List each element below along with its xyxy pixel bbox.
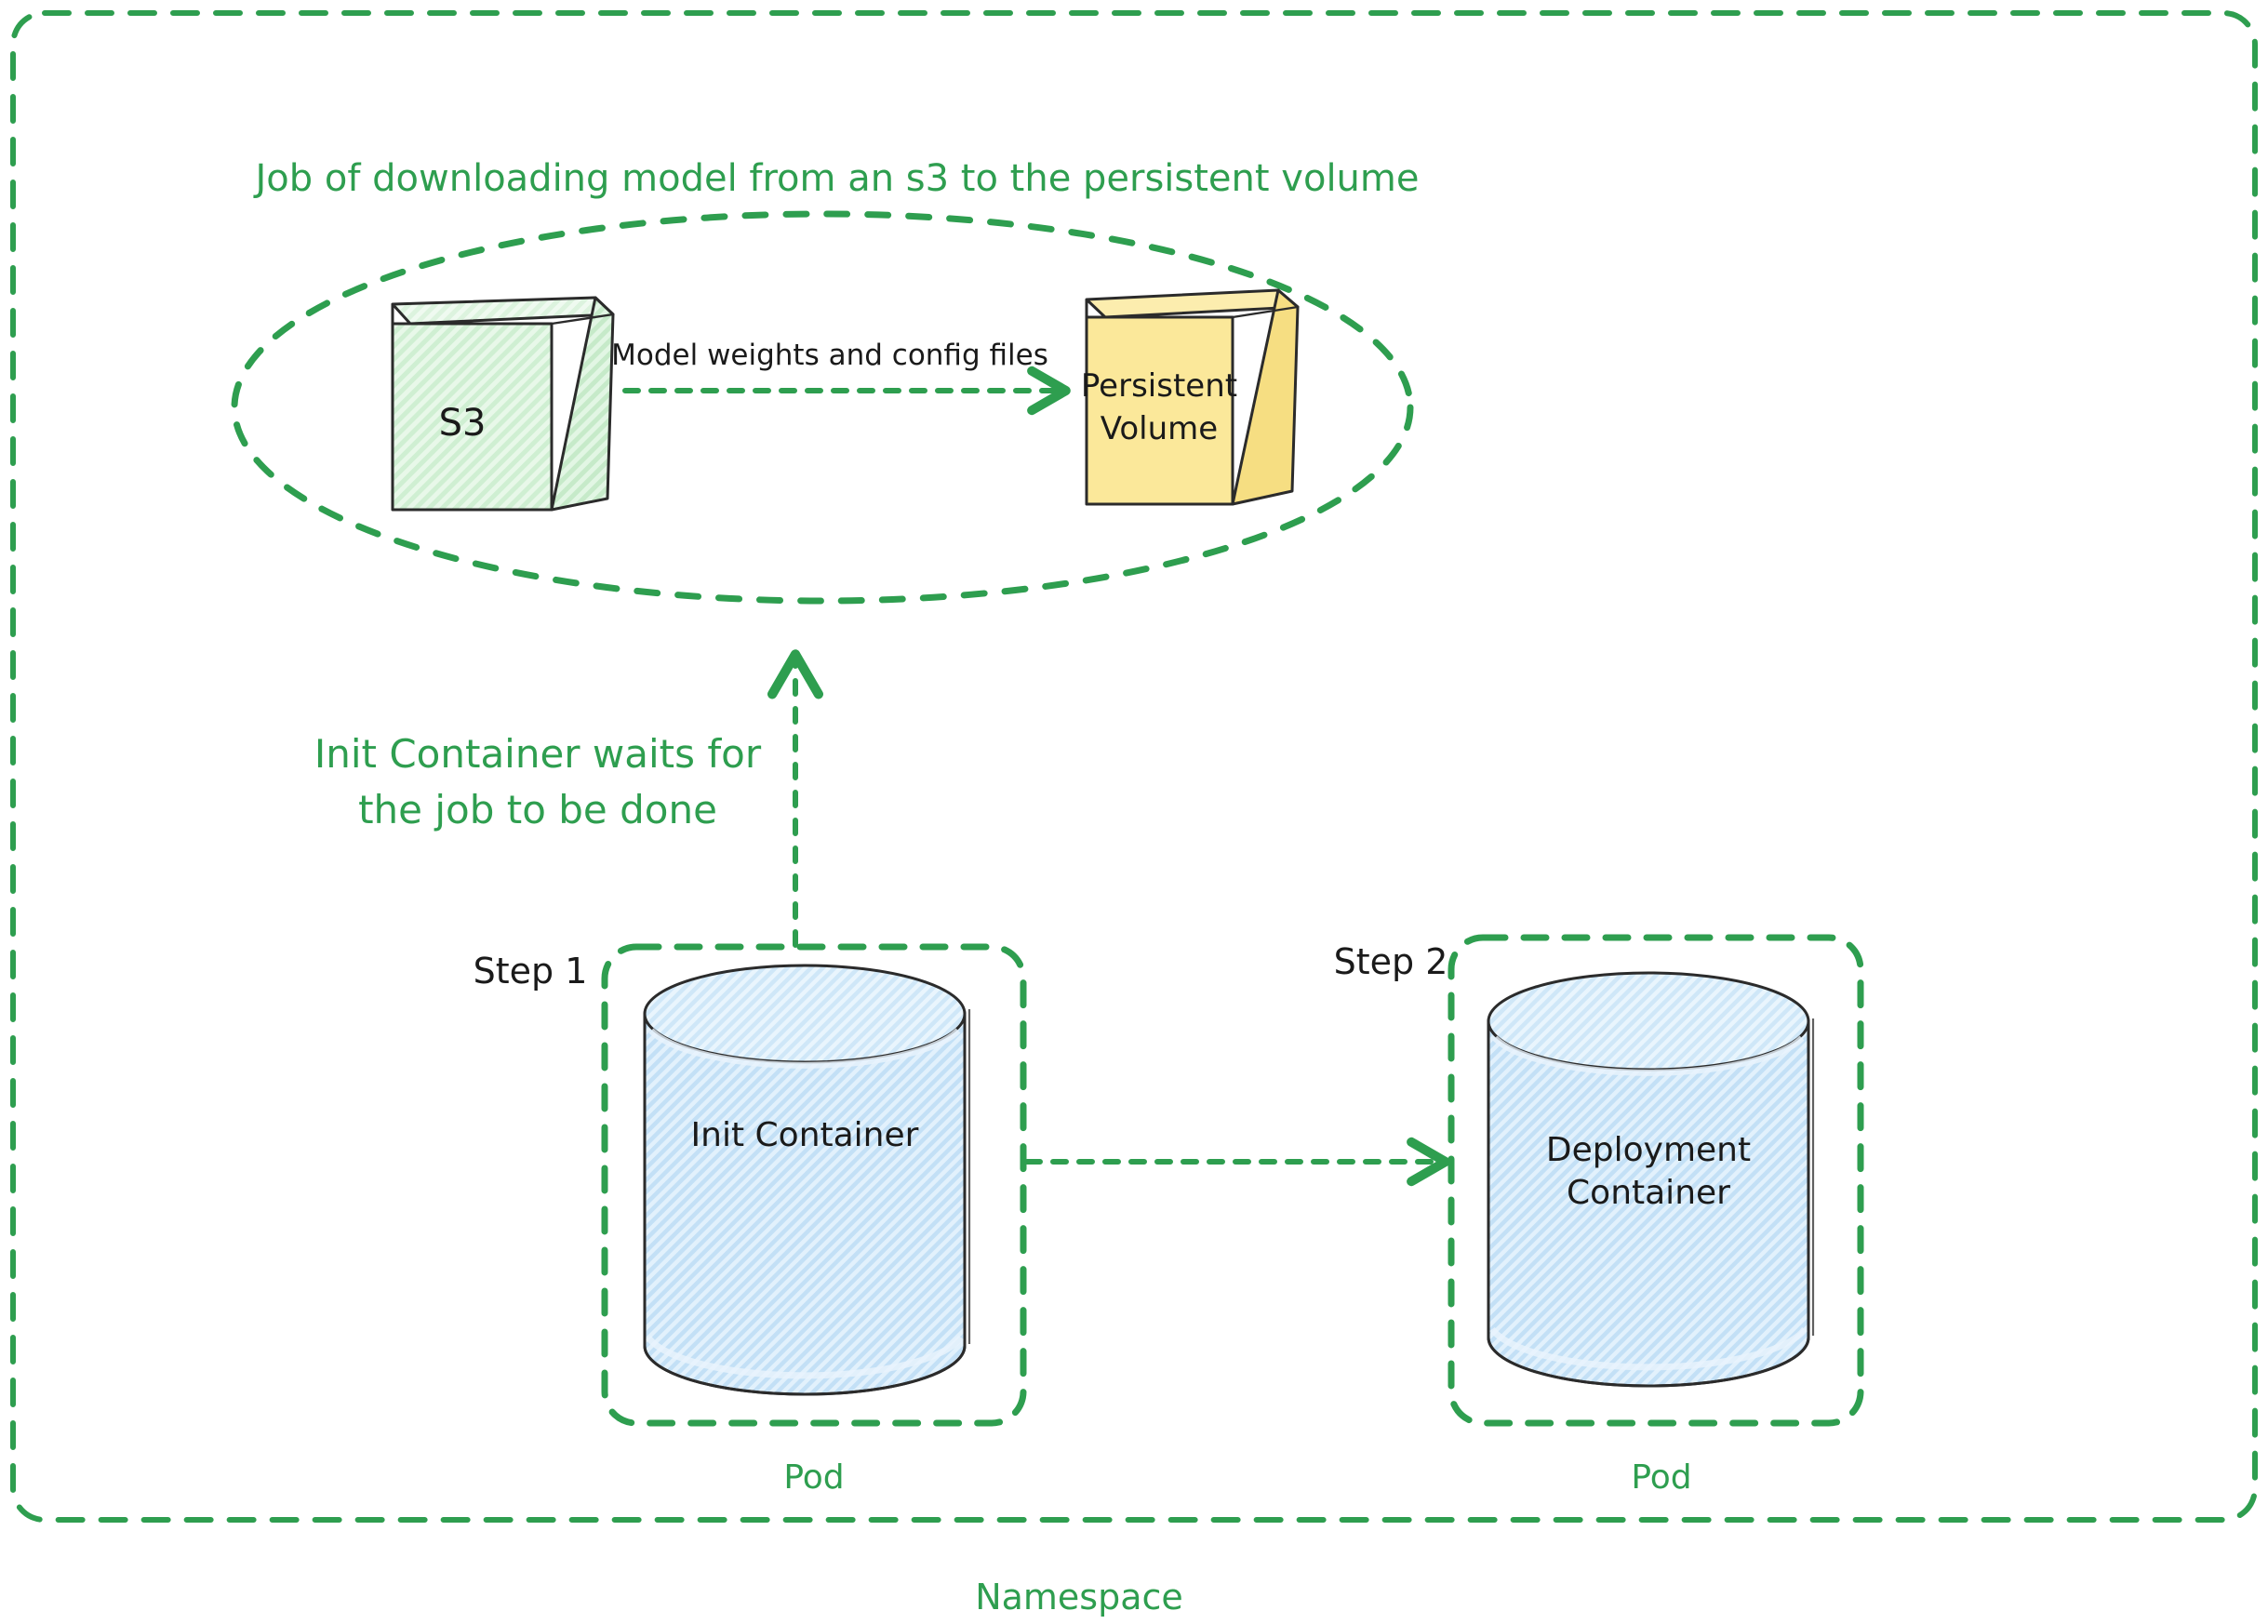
- deployment-container-label-line1: Deployment: [1546, 1131, 1751, 1169]
- persistent-volume-cube: Persistent Volume: [1081, 290, 1298, 504]
- namespace-label: Namespace: [975, 1577, 1183, 1617]
- job-group-caption: Job of downloading model from an s3 to t…: [253, 157, 1420, 200]
- architecture-diagram: S3 Persistent Volume: [0, 0, 2268, 1624]
- s3-label: S3: [439, 402, 487, 445]
- edge-init-to-job-label-line2: the job to be done: [358, 787, 717, 832]
- step-2-label: Step 2: [1334, 941, 1448, 982]
- init-container-label: Init Container: [691, 1116, 919, 1154]
- s3-cube: S3: [393, 298, 613, 510]
- step-1-label: Step 1: [474, 951, 588, 992]
- pv-label-line2: Volume: [1101, 410, 1218, 447]
- diagram-canvas: S3 Persistent Volume: [0, 0, 2268, 1624]
- pod-1-label: Pod: [783, 1458, 844, 1497]
- init-container-cylinder-body: [645, 1014, 965, 1394]
- pod-2-label: Pod: [1631, 1458, 1691, 1497]
- pv-cube-side-face: [1233, 290, 1298, 504]
- deployment-container-label-line2: Container: [1567, 1174, 1730, 1212]
- pv-cube-top-face: [1087, 290, 1298, 317]
- pod-init-container: Init Container Step 1 Pod: [474, 947, 1023, 1497]
- pod-deployment-container: Deployment Container Step 2 Pod: [1334, 938, 1861, 1497]
- edge-s3-to-pv-label: Model weights and config files: [611, 339, 1048, 372]
- init-container-cylinder-top: [645, 965, 965, 1062]
- pv-label-line1: Persistent: [1081, 367, 1237, 405]
- s3-cube-side-face: [552, 298, 613, 510]
- deployment-container-cylinder-top: [1488, 973, 1808, 1070]
- edge-init-to-job-label-line1: Init Container waits for: [314, 731, 762, 777]
